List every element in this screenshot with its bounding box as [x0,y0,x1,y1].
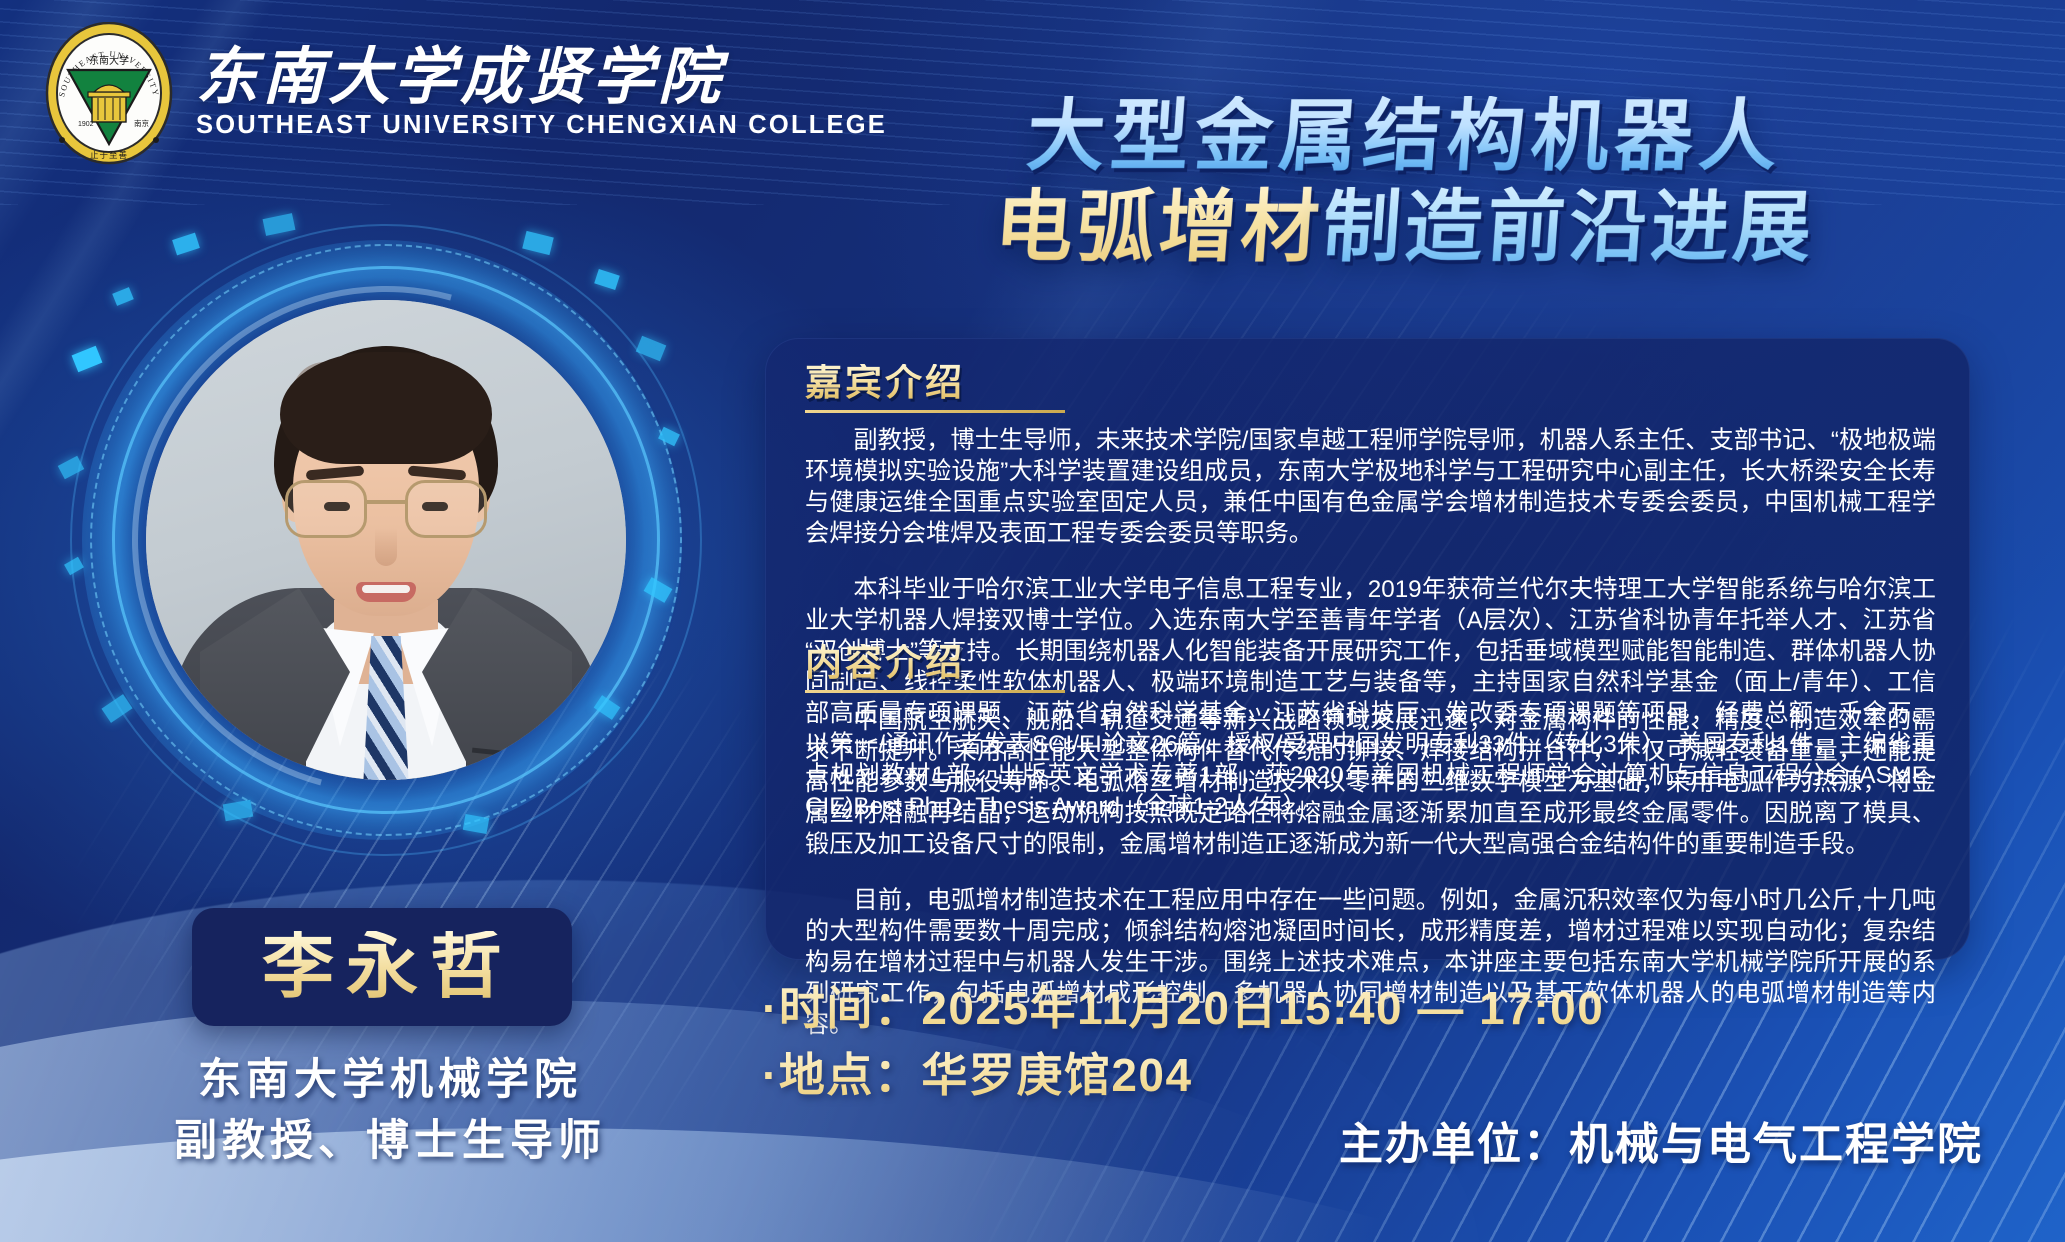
affiliation-line-2: 副教授、博士生导师 [0,1111,780,1172]
event-place-row: ·地点：华罗庚馆204 [762,1042,1604,1109]
title-line-2-blue: 制造前沿进展 [1320,183,1818,271]
speaker-name-plate: 李永哲 [192,908,572,1026]
content-intro-heading: 内容介绍 [805,644,1936,681]
event-place-value: 华罗庚馆204 [921,1042,1192,1109]
content-intro-paragraph-1: 中国航空航天、舰船、轨道交通等新兴战略领域发展迅速，对金属构件的性能、精度、制造… [805,705,1936,860]
pixel-flake [72,346,103,372]
pixel-flake [112,287,134,306]
title-line-2: 电弧增材制造前沿进展 [767,187,2043,268]
mouth [356,582,416,602]
svg-text:止于至善: 止于至善 [90,150,128,160]
info-panel: 嘉宾介绍 副教授，博士生导师，未来技术学院/国家卓越工程师学院导师，机器人系主任… [765,338,1970,960]
glasses-bridge [367,500,405,504]
title-line-1: 大型金属结构机器人 [767,96,2043,177]
title-line-2-gold: 电弧增材 [992,183,1326,271]
university-seal-icon: SOUTHEAST UNIVERSITY 东南大学 1902 南京 止于至善 [44,22,174,165]
event-place-label: ·地点： [762,1042,921,1109]
poster-root: SOUTHEAST UNIVERSITY 东南大学 1902 南京 止于至善 东… [0,0,2065,1242]
event-time-value: 2025年11月20日15:40 — 17:00 [921,975,1604,1042]
svg-text:东南大学: 东南大学 [89,54,129,67]
content-intro-rule [805,690,1065,693]
affiliation-line-1: 东南大学机械学院 [0,1050,780,1111]
event-host: 主办单位：机械与电气工程学院 [1339,1108,1983,1172]
speaker-name: 李永哲 [250,931,514,1003]
lens-left [285,480,367,538]
svg-text:1902: 1902 [78,121,94,128]
event-details: ·时间：2025年11月20日15:40 — 17:00 ·地点：华罗庚馆204 [762,975,1604,1108]
guest-intro-paragraph-1: 副教授，博士生导师，未来技术学院/国家卓越工程师学院导师，机器人系主任、支部书记… [805,425,1936,549]
speaker-portrait [104,230,664,870]
university-logo: SOUTHEAST UNIVERSITY 东南大学 1902 南京 止于至善 东… [44,22,887,165]
event-time-label: ·时间： [762,975,921,1042]
event-time-row: ·时间：2025年11月20日15:40 — 17:00 [762,975,1604,1042]
poster-title: 大型金属结构机器人 电弧增材制造前沿进展 [770,96,2040,268]
speaker-affiliation: 东南大学机械学院 副教授、博士生导师 [0,1050,780,1172]
pixel-flake [594,269,620,290]
svg-text:南京: 南京 [134,118,149,128]
nose [375,528,397,566]
lens-right [405,480,487,538]
hair-fringe [280,352,492,464]
speaker-photo [146,300,626,780]
guest-intro-rule [805,410,1065,413]
pixel-flake [172,233,200,256]
guest-intro-heading: 嘉宾介绍 [805,364,1936,401]
